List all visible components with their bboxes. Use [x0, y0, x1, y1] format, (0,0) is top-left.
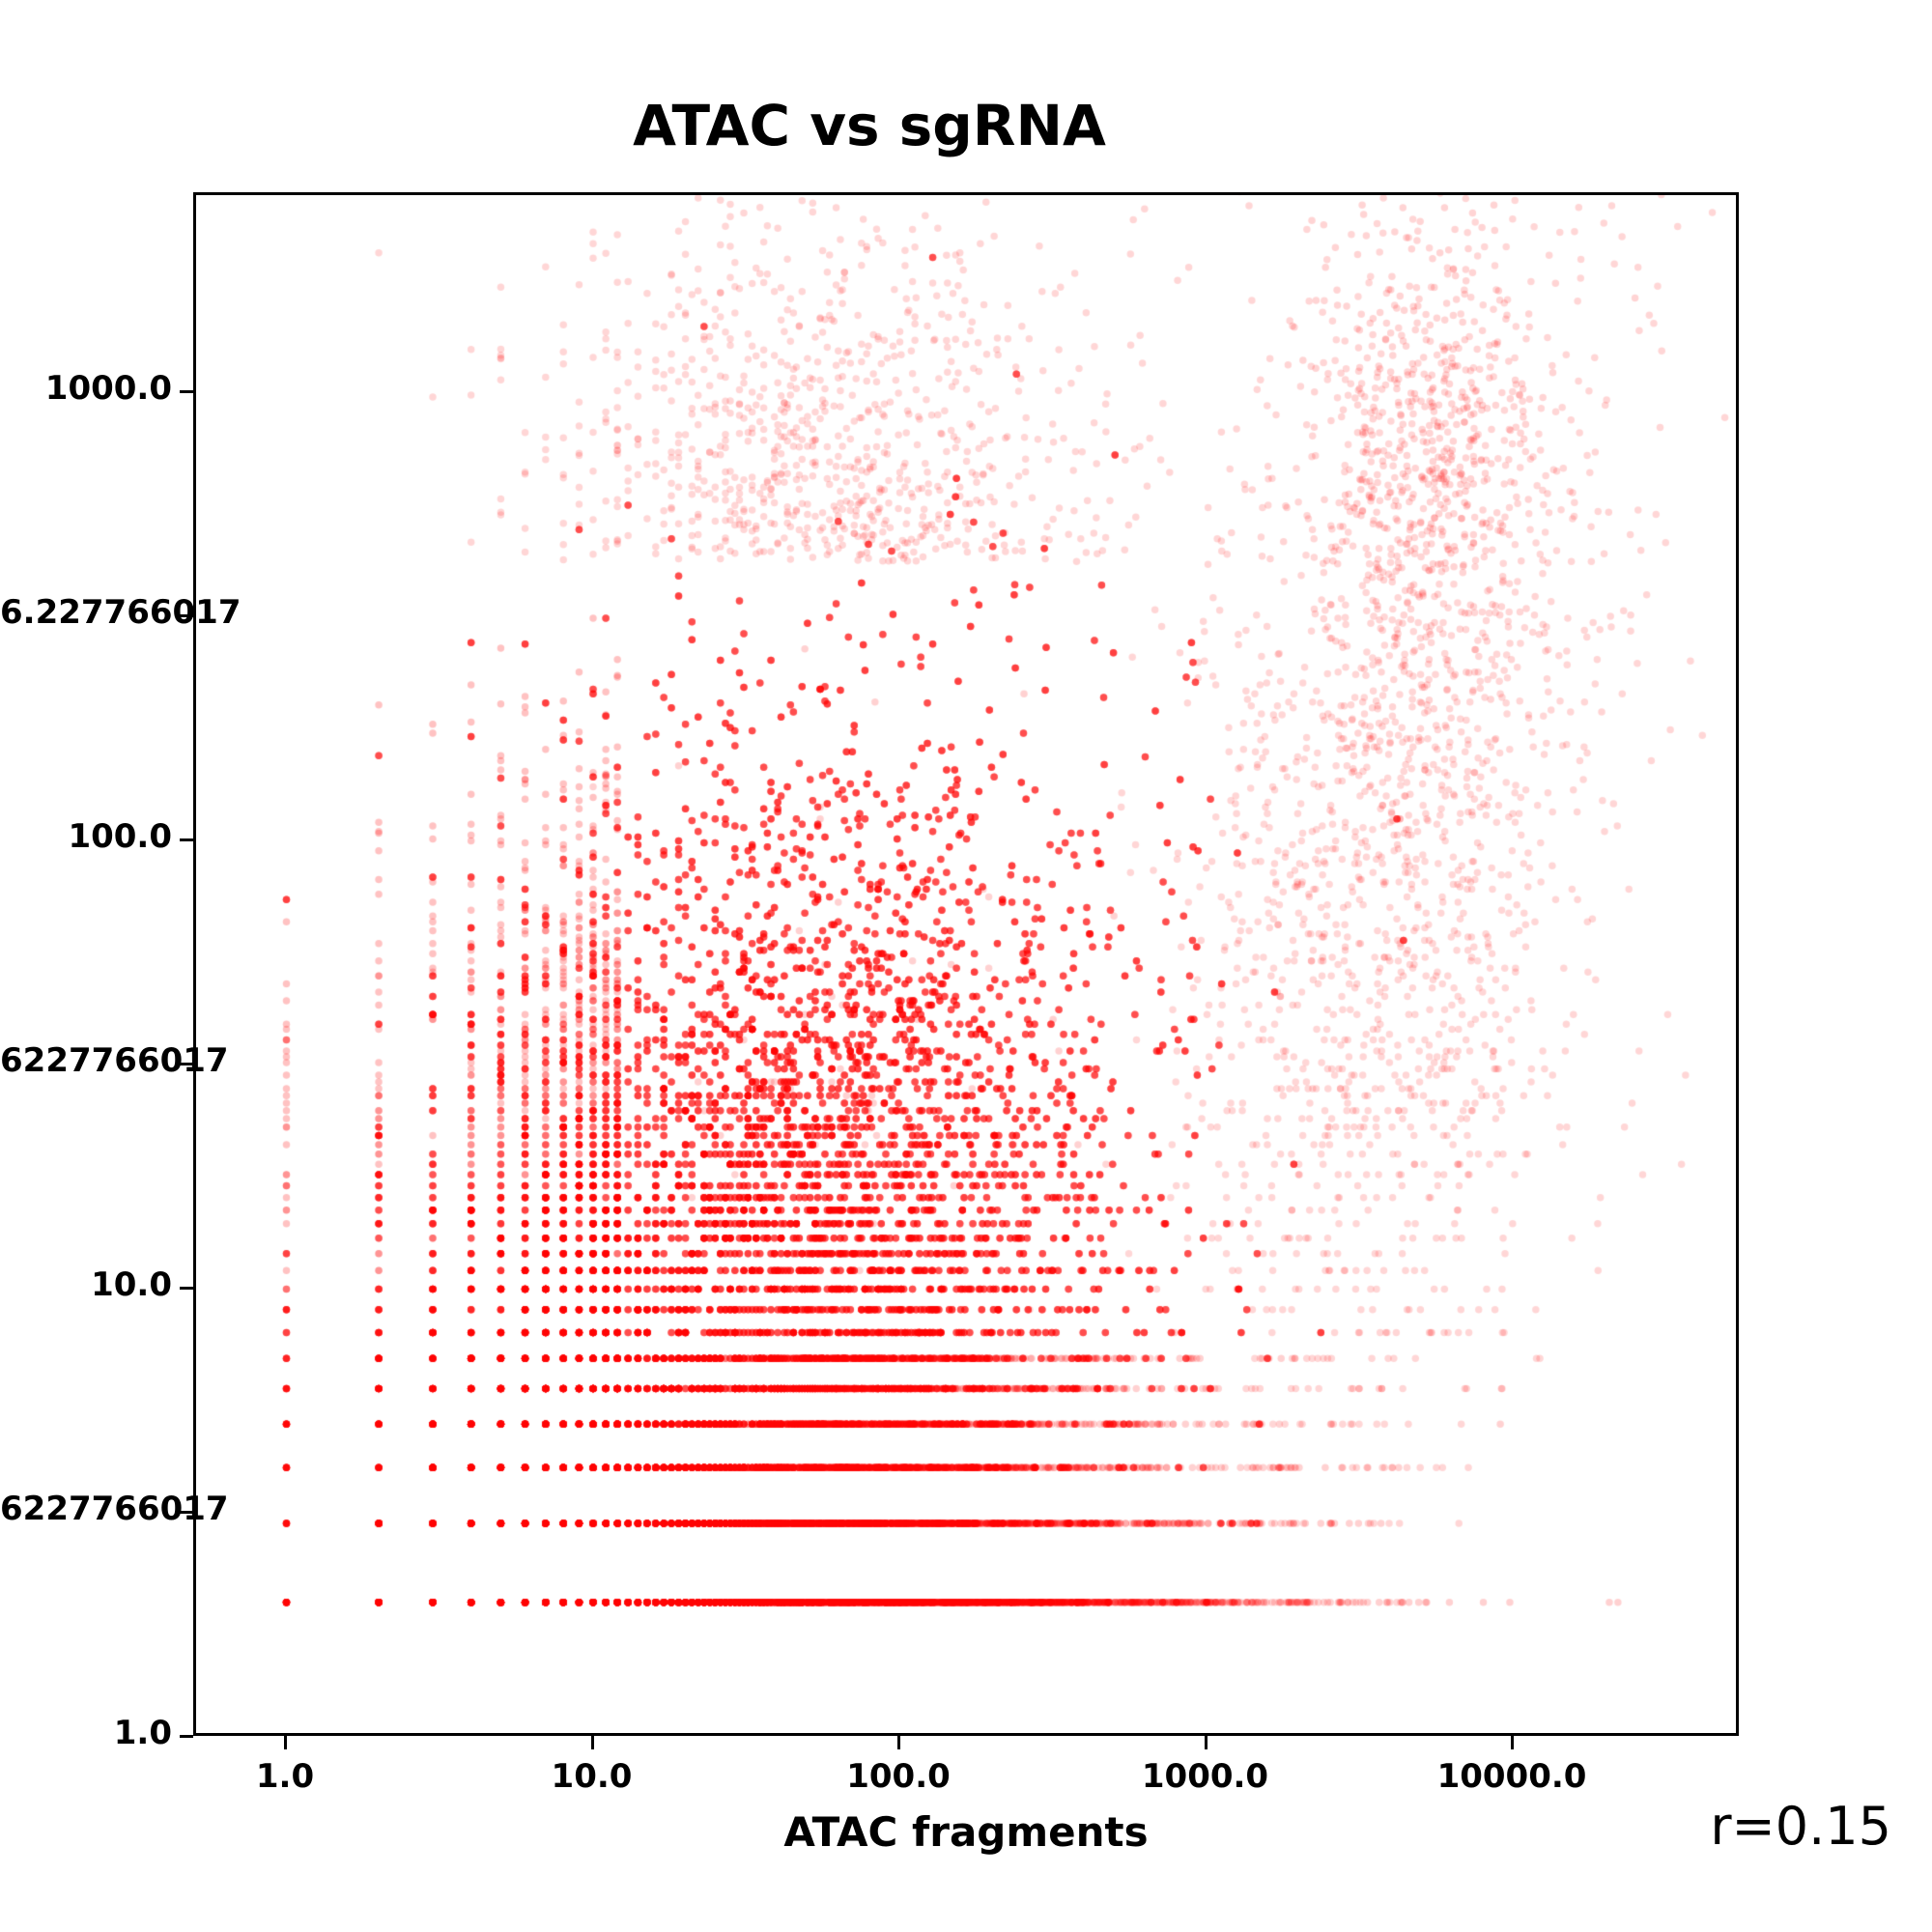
y-tick-mark [180, 1735, 193, 1738]
y-tick-label: 100.0 [0, 817, 172, 856]
correlation-annotation: r=0.15 [1710, 1796, 1891, 1857]
y-tick-label: 10.0 [0, 1265, 172, 1304]
x-tick-label: 1.0 [140, 1757, 430, 1796]
y-tick-label: 6227766017 [0, 1490, 172, 1528]
x-tick-label: 100.0 [753, 1757, 1043, 1796]
x-tick-mark [1205, 1736, 1207, 1749]
x-tick-mark [591, 1736, 594, 1749]
x-tick-mark [1511, 1736, 1514, 1749]
x-tick-mark [897, 1736, 900, 1749]
y-tick-mark [180, 390, 193, 393]
y-tick-label: 1000.0 [0, 369, 172, 408]
scatter-plot-canvas [196, 195, 1736, 1733]
y-tick-mark [180, 1287, 193, 1290]
x-axis-label: ATAC fragments [193, 1808, 1739, 1856]
x-tick-label: 1000.0 [1061, 1757, 1350, 1796]
x-tick-mark [284, 1736, 287, 1749]
y-tick-label: 6.227766017 [0, 593, 172, 632]
chart-title: ATAC vs sgRNA [0, 93, 1739, 158]
y-tick-label: 1.0 [0, 1714, 172, 1752]
x-tick-label: 10.0 [447, 1757, 737, 1796]
chart-root: ATAC vs sgRNA 1000.06.227766017100.06227… [0, 0, 1932, 1932]
y-tick-label: 6227766017 [0, 1041, 172, 1080]
y-tick-mark [180, 838, 193, 841]
plot-area [193, 192, 1739, 1736]
x-tick-label: 10000.0 [1367, 1757, 1657, 1796]
